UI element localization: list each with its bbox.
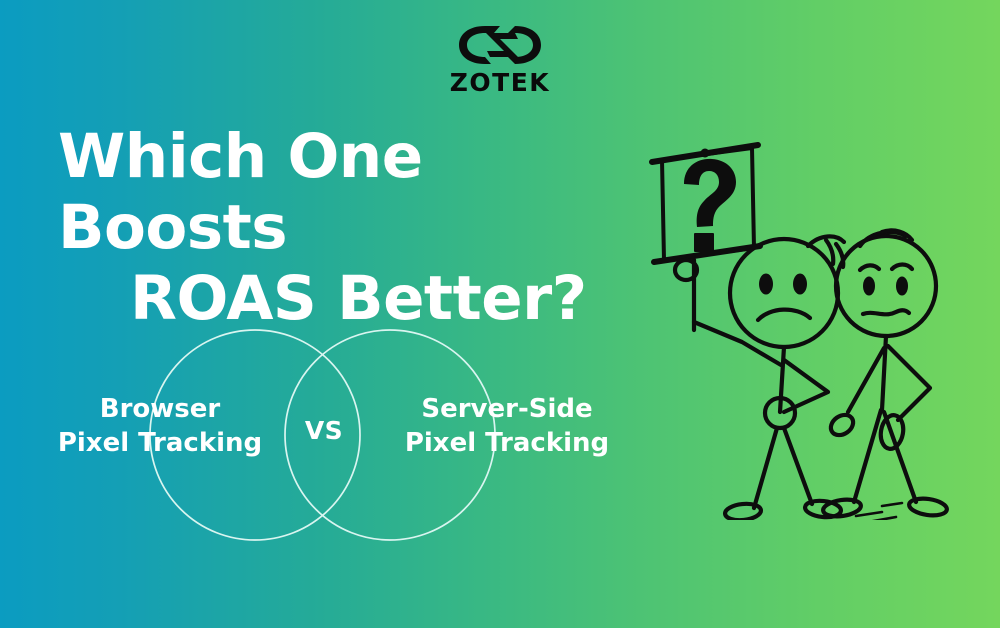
venn-label-left-line-2: Pixel Tracking: [58, 428, 262, 458]
brand-wordmark: ZOTEK: [450, 70, 550, 95]
brand-logo[interactable]: ZOTEK: [0, 22, 1000, 95]
stick-figure-illustration: [630, 120, 1000, 520]
stick-figure-walking-confused: [822, 230, 948, 520]
question-mark-icon: [684, 159, 736, 252]
venn-label-left: Browser Pixel Tracking: [25, 393, 295, 461]
venn-label-left-line-1: Browser: [100, 394, 220, 424]
czd-monogram-icon: [454, 22, 546, 68]
venn-diagram: Browser Pixel Tracking VS Server-Side Pi…: [60, 300, 620, 570]
stick-figure-holding-question-sign: [652, 145, 844, 520]
venn-label-right-line-2: Pixel Tracking: [405, 428, 609, 458]
promo-banner: ZOTEK Which One Boosts ROAS Better? Brow…: [0, 0, 1000, 628]
venn-label-right: Server-Side Pixel Tracking: [352, 393, 662, 461]
headline-line-1: Which One Boosts: [58, 122, 618, 264]
venn-label-right-line-1: Server-Side: [421, 394, 592, 424]
